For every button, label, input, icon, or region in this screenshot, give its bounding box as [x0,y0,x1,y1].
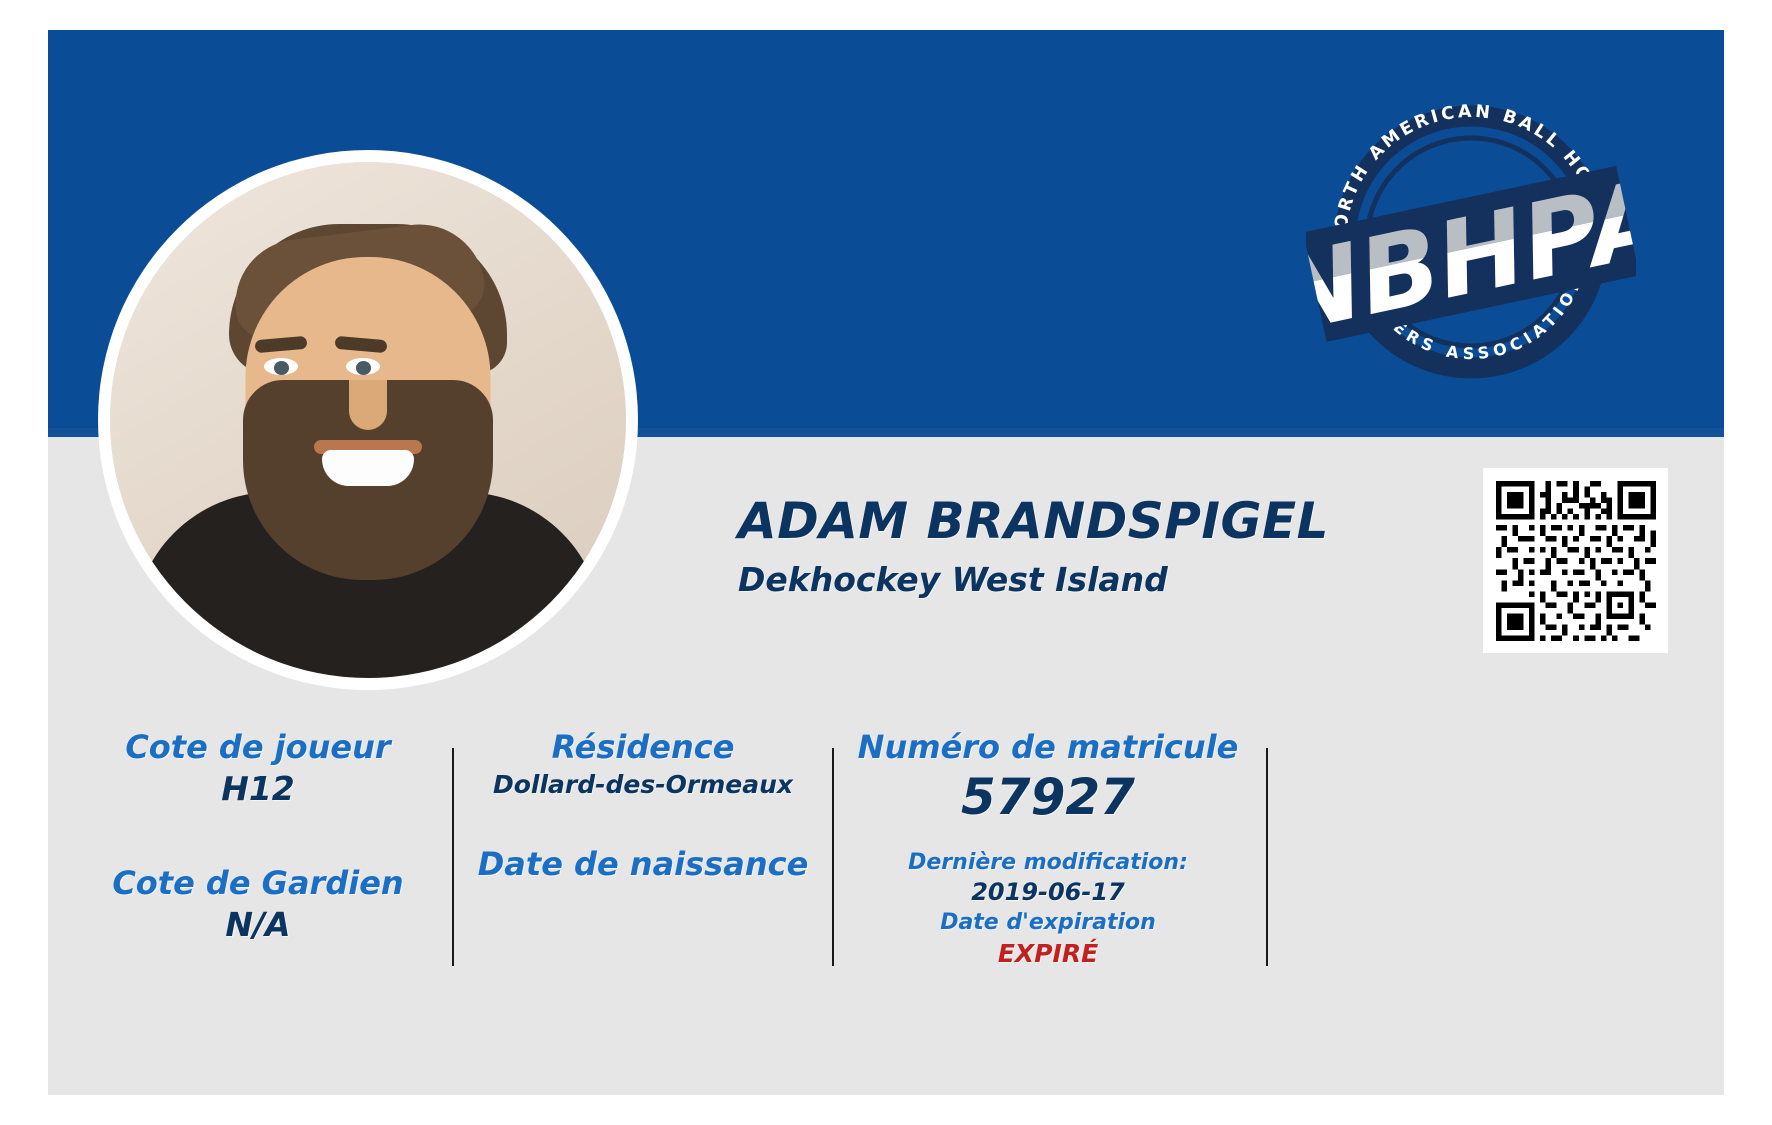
goalie-rating-label: Cote de Gardien [78,866,438,902]
player-photo [110,162,626,678]
last-modified-label: Dernière modification: [848,851,1248,876]
ratings-column: Cote de joueur H12 Cote de Gardien N/A [78,730,438,948]
residence-column: Résidence Dollard-des-Ormeaux Date de na… [468,730,818,887]
residence-value: Dollard-des-Ormeaux [468,770,818,799]
info-grid: Cote de joueur H12 Cote de Gardien N/A R… [48,730,1724,1030]
last-modified-value: 2019-06-17 [848,879,1248,907]
player-id-card: NORTH AMERICAN BALL HOCKEY PLAYERS ASSOC… [48,30,1724,1095]
player-photo-frame [98,150,638,690]
column-divider-2 [832,748,834,966]
nbhpa-logo: NORTH AMERICAN BALL HOCKEY PLAYERS ASSOC… [1306,82,1636,382]
player-rating-label: Cote de joueur [78,730,438,766]
column-divider-1 [452,748,454,966]
column-divider-3 [1266,748,1268,966]
player-team: Dekhockey West Island [738,560,1438,599]
player-identity: ADAM BRANDSPIGEL Dekhockey West Island [738,495,1438,599]
expiration-label: Date d'expiration [848,911,1248,936]
residence-label: Résidence [468,730,818,766]
birthdate-label: Date de naissance [468,847,818,883]
expiration-status: EXPIRÉ [848,940,1248,969]
matricule-value: 57927 [848,770,1248,825]
qr-code-icon [1496,481,1656,641]
player-name: ADAM BRANDSPIGEL [738,495,1438,548]
matricule-column: Numéro de matricule 57927 Dernière modif… [848,730,1248,972]
matricule-label: Numéro de matricule [848,730,1248,766]
goalie-rating-value: N/A [78,906,438,944]
player-rating-value: H12 [78,770,438,808]
qr-code[interactable] [1483,468,1668,653]
